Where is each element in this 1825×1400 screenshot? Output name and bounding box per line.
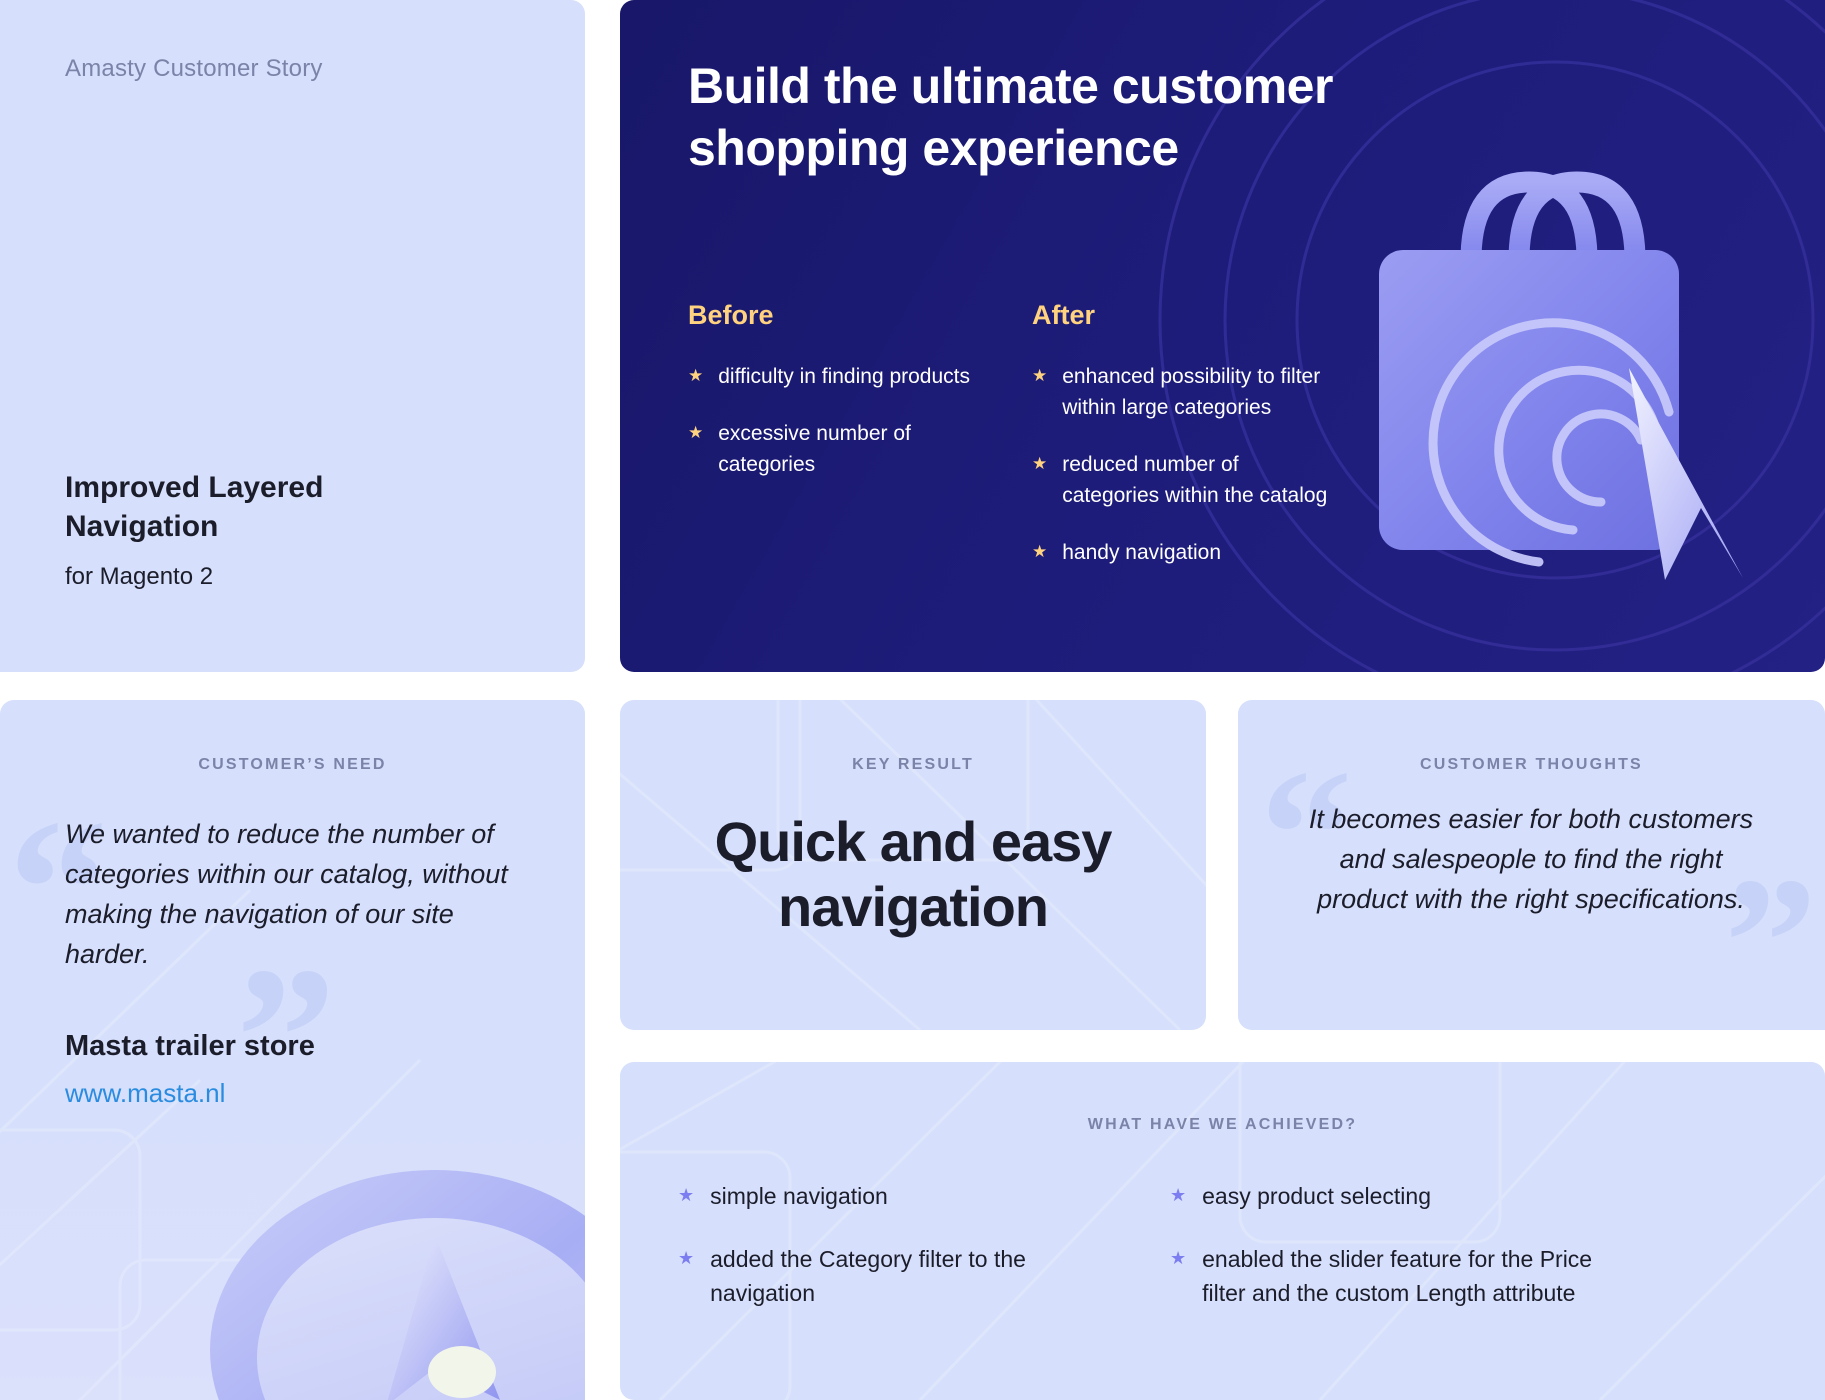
after-column: After ★ enhanced possibility to filter w…: [1032, 300, 1328, 594]
section-label: KEY RESULT: [620, 756, 1206, 774]
list-item: ★ simple navigation: [678, 1180, 1108, 1213]
before-heading: Before: [688, 300, 984, 331]
store-link[interactable]: www.masta.nl: [65, 1078, 225, 1109]
list-item: ★ difficulty in finding products: [688, 361, 984, 392]
list-item-label: enabled the slider feature for the Price…: [1202, 1243, 1600, 1310]
list-item: ★ enabled the slider feature for the Pri…: [1170, 1243, 1600, 1310]
before-after-comparison: Before ★ difficulty in finding products …: [688, 300, 1478, 594]
list-item-label: handy navigation: [1062, 537, 1221, 568]
section-label: CUSTOMER’S NEED: [0, 756, 585, 774]
key-result-headline: Quick and easy navigation: [620, 810, 1206, 940]
list-item: ★ excessive number of categories: [688, 418, 984, 480]
after-heading: After: [1032, 300, 1328, 331]
star-icon: ★: [1032, 361, 1047, 423]
customer-thoughts-quote: It becomes easier for both customers and…: [1306, 800, 1756, 920]
section-label: CUSTOMER THOUGHTS: [1238, 756, 1825, 774]
customer-thoughts-card: “ ” CUSTOMER THOUGHTS It becomes easier …: [1238, 700, 1825, 1030]
page-title: Improved Layered Navigation: [65, 468, 485, 546]
infographic-page: Amasty Customer Story Improved Layered N…: [0, 0, 1825, 1400]
list-item-label: difficulty in finding products: [718, 361, 970, 392]
list-item-label: reduced number of categories within the …: [1062, 449, 1328, 511]
star-icon: ★: [1170, 1243, 1186, 1310]
star-icon: ★: [1032, 449, 1047, 511]
achievements-right-column: ★ easy product selecting ★ enabled the s…: [1170, 1180, 1600, 1340]
intro-card: Amasty Customer Story Improved Layered N…: [0, 0, 585, 672]
list-item-label: simple navigation: [710, 1180, 888, 1213]
after-list: ★ enhanced possibility to filter within …: [1032, 361, 1328, 568]
page-subtitle: for Magento 2: [65, 563, 213, 591]
hero-title: Build the ultimate customer shopping exp…: [688, 55, 1558, 179]
before-column: Before ★ difficulty in finding products …: [688, 300, 984, 594]
star-icon: ★: [678, 1180, 694, 1213]
list-item: ★ easy product selecting: [1170, 1180, 1600, 1213]
list-item-label: excessive number of categories: [718, 418, 984, 480]
star-icon: ★: [688, 418, 703, 480]
list-item: ★ handy navigation: [1032, 537, 1328, 568]
achievements-columns: ★ simple navigation ★ added the Category…: [678, 1180, 1708, 1340]
list-item: ★ enhanced possibility to filter within …: [1032, 361, 1328, 423]
before-list: ★ difficulty in finding products ★ exces…: [688, 361, 984, 480]
key-result-card: KEY RESULT Quick and easy navigation: [620, 700, 1206, 1030]
star-icon: ★: [688, 361, 703, 392]
hero-card: Build the ultimate customer shopping exp…: [620, 0, 1825, 672]
star-icon: ★: [1170, 1180, 1186, 1213]
customer-need-card: CUSTOMER’S NEED “ ” We wanted to reduce …: [0, 700, 585, 1400]
customer-need-quote: We wanted to reduce the number of catego…: [65, 815, 525, 975]
star-icon: ★: [678, 1243, 694, 1310]
list-item: ★ added the Category filter to the navig…: [678, 1243, 1108, 1310]
section-label: WHAT HAVE WE ACHIEVED?: [620, 1116, 1825, 1134]
achievements-right-list: ★ easy product selecting ★ enabled the s…: [1170, 1180, 1600, 1310]
achievements-left-list: ★ simple navigation ★ added the Category…: [678, 1180, 1108, 1310]
star-icon: ★: [1032, 537, 1047, 568]
achievements-card: WHAT HAVE WE ACHIEVED? ★ simple navigati…: [620, 1062, 1825, 1400]
list-item-label: enhanced possibility to filter within la…: [1062, 361, 1328, 423]
store-name: Masta trailer store: [65, 1030, 315, 1063]
eyebrow-label: Amasty Customer Story: [65, 55, 323, 83]
achievements-left-column: ★ simple navigation ★ added the Category…: [678, 1180, 1108, 1340]
list-item-label: easy product selecting: [1202, 1180, 1431, 1213]
list-item: ★ reduced number of categories within th…: [1032, 449, 1328, 511]
list-item-label: added the Category filter to the navigat…: [710, 1243, 1108, 1310]
